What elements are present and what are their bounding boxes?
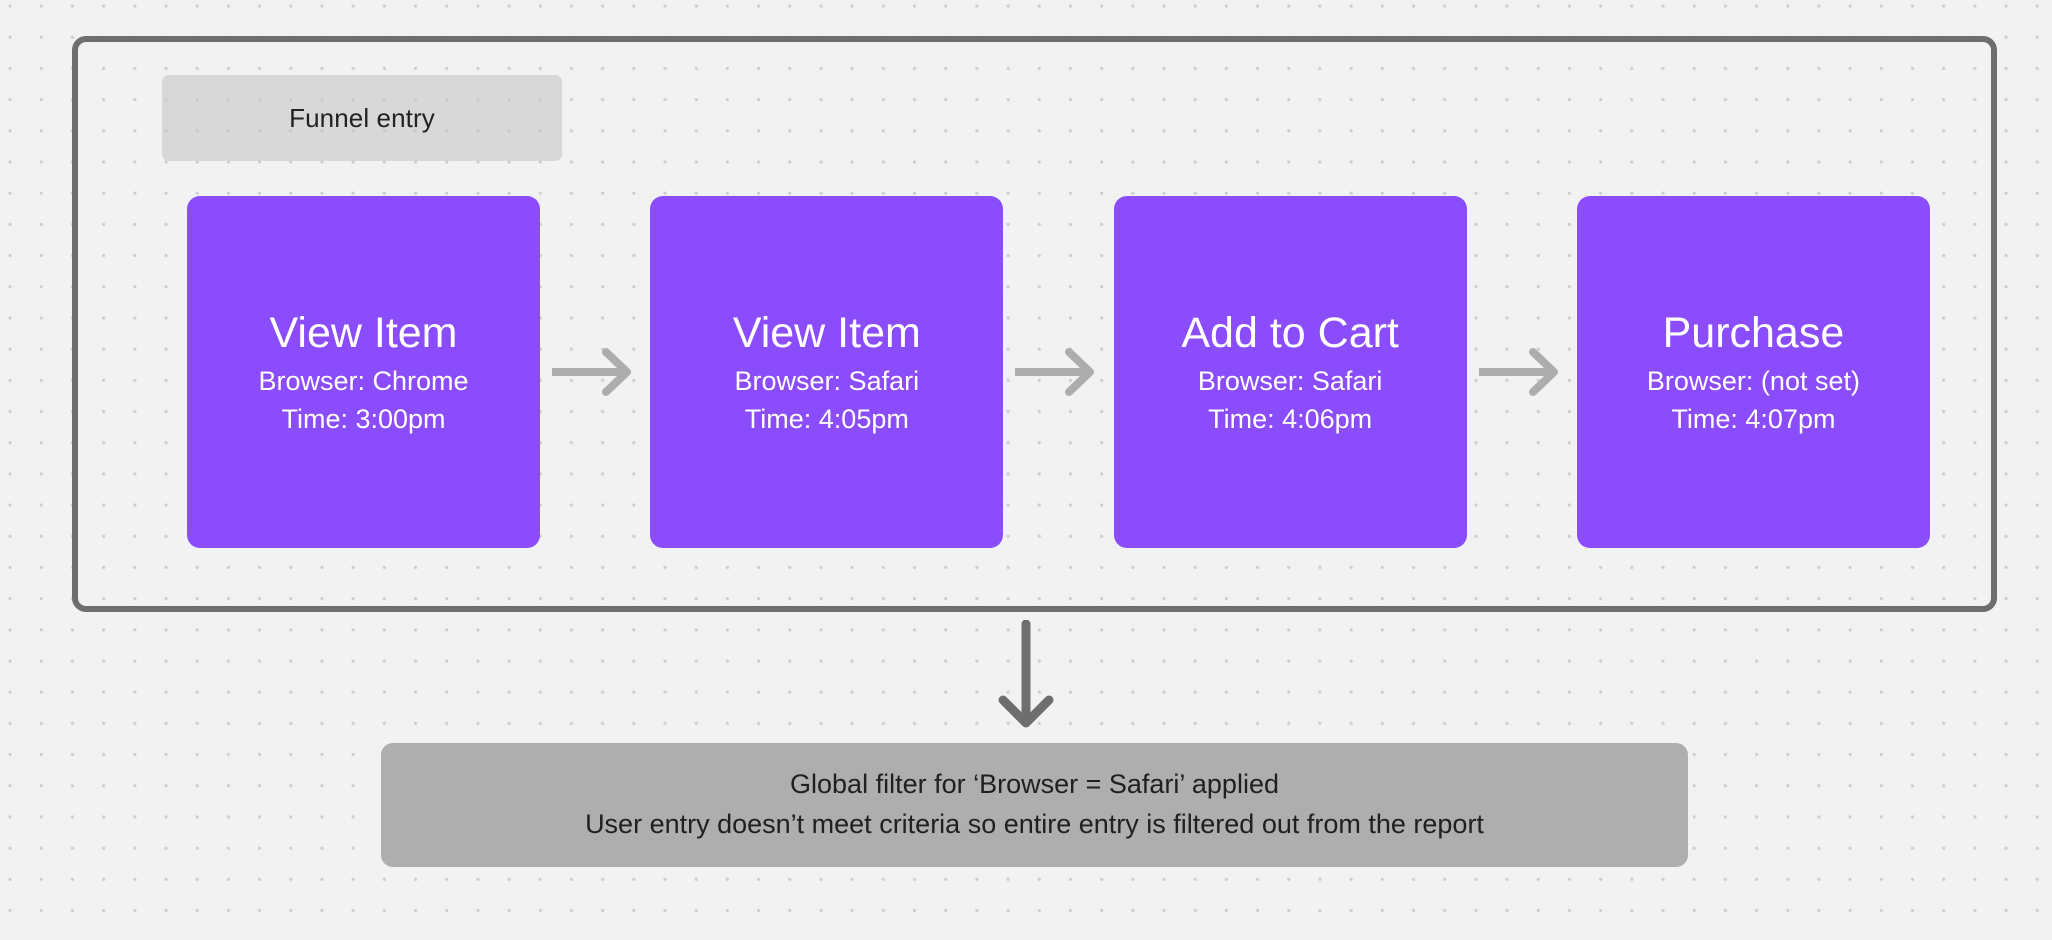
arrow-down-icon xyxy=(998,620,1054,732)
arrow-right-icon xyxy=(1015,342,1101,402)
filter-note-line-1: Global filter for ‘Browser = Safari’ app… xyxy=(790,765,1279,805)
filter-note-line-2: User entry doesn’t meet criteria so enti… xyxy=(585,805,1484,845)
step-time: Time: 4:07pm xyxy=(1671,401,1835,438)
global-filter-note: Global filter for ‘Browser = Safari’ app… xyxy=(381,743,1688,867)
step-browser: Browser: Safari xyxy=(1198,363,1383,400)
diagram-canvas: Funnel entry View Item Browser: Chrome T… xyxy=(0,0,2052,940)
step-time: Time: 4:06pm xyxy=(1208,401,1372,438)
arrow-right-icon xyxy=(1479,342,1565,402)
step-title: View Item xyxy=(270,310,458,356)
funnel-step-card-4[interactable]: Purchase Browser: (not set) Time: 4:07pm xyxy=(1577,196,1930,548)
step-browser: Browser: (not set) xyxy=(1647,363,1860,400)
funnel-entry-label-box: Funnel entry xyxy=(162,75,562,161)
step-browser: Browser: Chrome xyxy=(258,363,468,400)
funnel-step-card-3[interactable]: Add to Cart Browser: Safari Time: 4:06pm xyxy=(1114,196,1467,548)
step-title: Purchase xyxy=(1663,310,1845,356)
step-time: Time: 4:05pm xyxy=(745,401,909,438)
connector-2-3 xyxy=(1015,342,1101,402)
step-time: Time: 3:00pm xyxy=(281,401,445,438)
step-browser: Browser: Safari xyxy=(735,363,920,400)
connector-3-4 xyxy=(1479,342,1565,402)
step-title: Add to Cart xyxy=(1181,310,1399,356)
funnel-step-card-1[interactable]: View Item Browser: Chrome Time: 3:00pm xyxy=(187,196,540,548)
connector-1-2 xyxy=(552,342,638,402)
arrow-right-icon xyxy=(552,342,638,402)
funnel-steps-row: View Item Browser: Chrome Time: 3:00pm V… xyxy=(187,196,1930,548)
step-title: View Item xyxy=(733,310,921,356)
funnel-step-card-2[interactable]: View Item Browser: Safari Time: 4:05pm xyxy=(650,196,1003,548)
funnel-entry-label: Funnel entry xyxy=(289,103,435,134)
